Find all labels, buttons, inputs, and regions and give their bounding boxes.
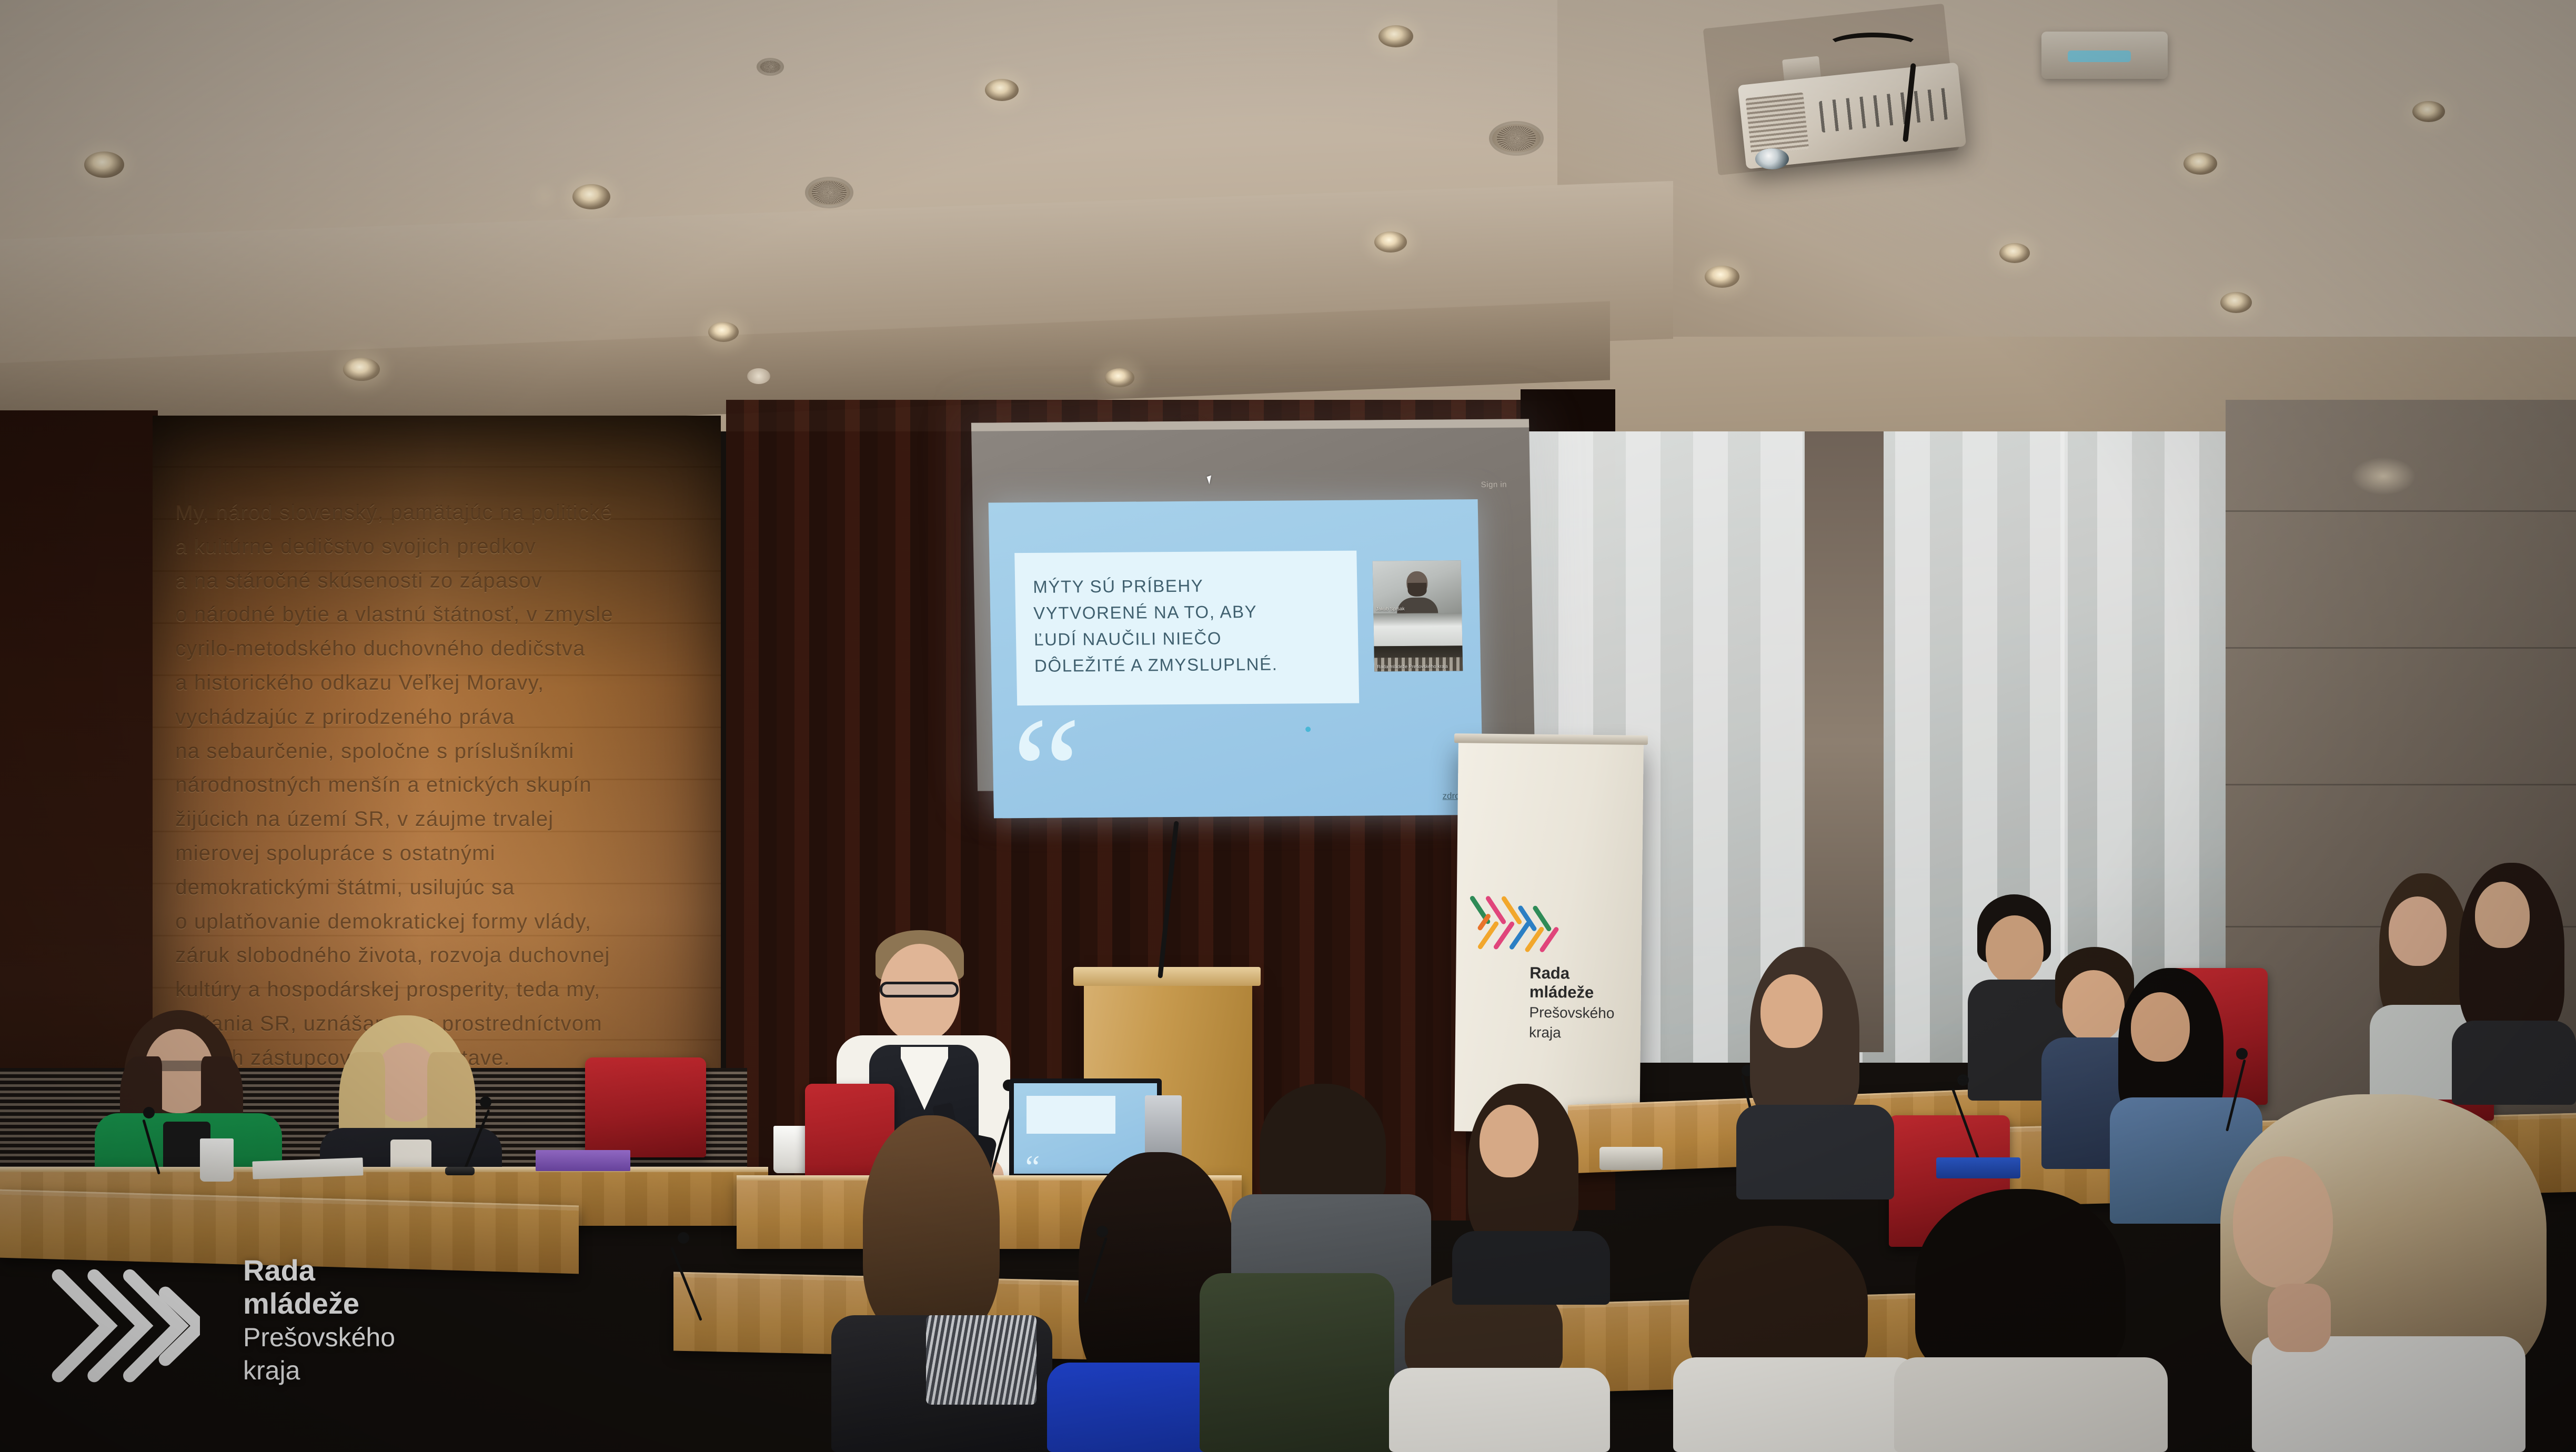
downlight <box>84 152 124 178</box>
slide-quote-card: MÝTY SÚ PRÍBEHY VYTVORENÉ NA TO, ABY ĽUD… <box>1014 551 1359 705</box>
downlight <box>708 322 739 342</box>
downlight <box>985 79 1019 101</box>
microphone-head <box>480 1096 491 1108</box>
face <box>2389 896 2447 966</box>
torso <box>1452 1231 1610 1305</box>
quotation-mark-icon: “ <box>1011 717 1083 828</box>
foreground-audience-member <box>1200 1242 1394 1452</box>
torso <box>2452 1021 2576 1105</box>
downlight <box>1999 243 2030 263</box>
downlight <box>1105 368 1134 387</box>
torso-white-shirt <box>1389 1368 1610 1452</box>
projection-screen: Sign in MÝTY SÚ PRÍBEHY VYTVORENÉ NA TO,… <box>971 419 1535 791</box>
glasses-icon <box>880 982 959 997</box>
hand <box>2268 1284 2331 1352</box>
face <box>1480 1105 1538 1177</box>
projector-vent-grille <box>1745 92 1809 155</box>
foreground-audience-member <box>831 1115 1052 1452</box>
status-indicator <box>2068 51 2131 62</box>
video-call-panel: Jakub Sprsak Rada mládeže Prešovského kr… <box>1373 560 1463 671</box>
ceiling-vent <box>805 177 853 208</box>
banner-line-2: mládeže <box>1529 983 1615 1003</box>
torso <box>1736 1105 1894 1199</box>
chevron-logo-icon <box>47 1261 200 1392</box>
watermark-line-2: mládeže <box>243 1287 395 1320</box>
desk-booklet <box>1936 1157 2020 1178</box>
desk-edge <box>0 1167 768 1172</box>
wall-spotlight-glow <box>2352 458 2415 495</box>
audience-member <box>1452 1084 1610 1305</box>
torso-white-shirt <box>1673 1357 1920 1452</box>
desk-tablet[interactable] <box>1599 1147 1663 1170</box>
banner-text-block: Rada mládeže Prešovského kraja <box>1529 964 1615 1042</box>
rada-mladeze-logo-white <box>47 1261 200 1392</box>
watermark-line-4: kraja <box>243 1355 395 1386</box>
slide-quote-line-4: DÔLEŽITÉ A ZMYSLUPLNÉ. <box>1034 654 1278 675</box>
striped-shirt <box>926 1315 1037 1405</box>
slide-accent-dot <box>1305 727 1311 732</box>
projector-cable <box>1826 33 1920 69</box>
conference-hall-photo: My, národ slovenský, pamätajúc na politi… <box>0 0 2576 1452</box>
downlight <box>572 184 610 209</box>
torso-white-top <box>2252 1336 2525 1452</box>
microphone-head <box>143 1107 155 1118</box>
smoke-detector <box>747 368 770 384</box>
projector-ports <box>1819 87 1953 133</box>
banner-line-4: kraja <box>1529 1023 1614 1042</box>
signin-label[interactable]: Sign in <box>1481 480 1507 489</box>
face <box>1760 974 1823 1048</box>
projector-lens <box>1755 148 1789 169</box>
slide-quote-line-1: MÝTY SÚ PRÍBEHY <box>1033 576 1204 597</box>
slide-quote-line-3: ĽUDÍ NAUČILI NIEČO <box>1034 629 1222 649</box>
video-room-name: Rada mládeže Prešovského kraja <box>1377 663 1448 669</box>
downlight <box>2220 292 2252 313</box>
mouse-pointer-icon <box>1207 476 1214 485</box>
slide-quote-line-2: VYTVORENÉ NA TO, ABY <box>1033 602 1257 623</box>
downlight <box>1374 231 1407 253</box>
audience-member <box>2452 863 2576 1105</box>
face <box>2475 882 2530 948</box>
microphone-head <box>1096 1226 1108 1237</box>
downlight <box>1705 266 1739 288</box>
rollup-banner: Rada mládeže Prešovského kraja <box>1454 742 1644 1133</box>
ceiling-vent <box>1489 121 1544 156</box>
foreground-audience-member <box>1673 1226 1920 1452</box>
microphone-head <box>2236 1048 2248 1060</box>
foreground-blonde-woman <box>2189 1094 2576 1452</box>
banner-line-1: Rada <box>1529 964 1615 984</box>
face <box>1986 915 2044 984</box>
downlight <box>2183 153 2217 175</box>
chair-red[interactable] <box>585 1057 706 1157</box>
video-participant-name: Jakub Sprsak <box>1376 606 1405 611</box>
banner-top-rail <box>1454 733 1648 745</box>
microphone-head <box>678 1232 689 1244</box>
downlight <box>1378 25 1413 47</box>
torso <box>1894 1357 2168 1452</box>
microphone-base <box>445 1167 475 1175</box>
hair <box>1260 1084 1386 1210</box>
downlight <box>343 358 380 381</box>
rada-mladeze-logo-color <box>1474 890 1569 959</box>
hair-ponytail <box>863 1115 1000 1336</box>
ceiling-vent <box>757 58 784 76</box>
video-tile-room-ceiling[interactable] <box>1373 613 1462 646</box>
foreground-audience-member <box>1894 1189 2168 1452</box>
watermark-line-1: Rada <box>243 1254 395 1287</box>
audience-member <box>1736 947 1894 1199</box>
podium-top-surface <box>1073 967 1261 986</box>
paper-cup <box>200 1138 234 1182</box>
watermark-logo: Rada mládeže Prešovského kraja <box>47 1257 447 1420</box>
downlight <box>2412 101 2445 122</box>
video-tile-room[interactable]: Rada mládeže Prešovského kraja <box>1374 646 1463 671</box>
microphone-head <box>1957 1074 1969 1086</box>
watermark-line-3: Prešovského <box>243 1322 395 1353</box>
torso-olive-jacket <box>1200 1273 1394 1452</box>
banner-line-3: Prešovského <box>1529 1004 1614 1022</box>
face <box>2233 1156 2333 1288</box>
video-tile-participant[interactable]: Jakub Sprsak <box>1373 560 1462 613</box>
participant-beard <box>1407 583 1426 597</box>
hair <box>1915 1189 2126 1378</box>
face <box>2131 992 2190 1062</box>
watermark-text-block: Rada mládeže Prešovského kraja <box>243 1254 395 1386</box>
purple-folder <box>536 1150 630 1171</box>
